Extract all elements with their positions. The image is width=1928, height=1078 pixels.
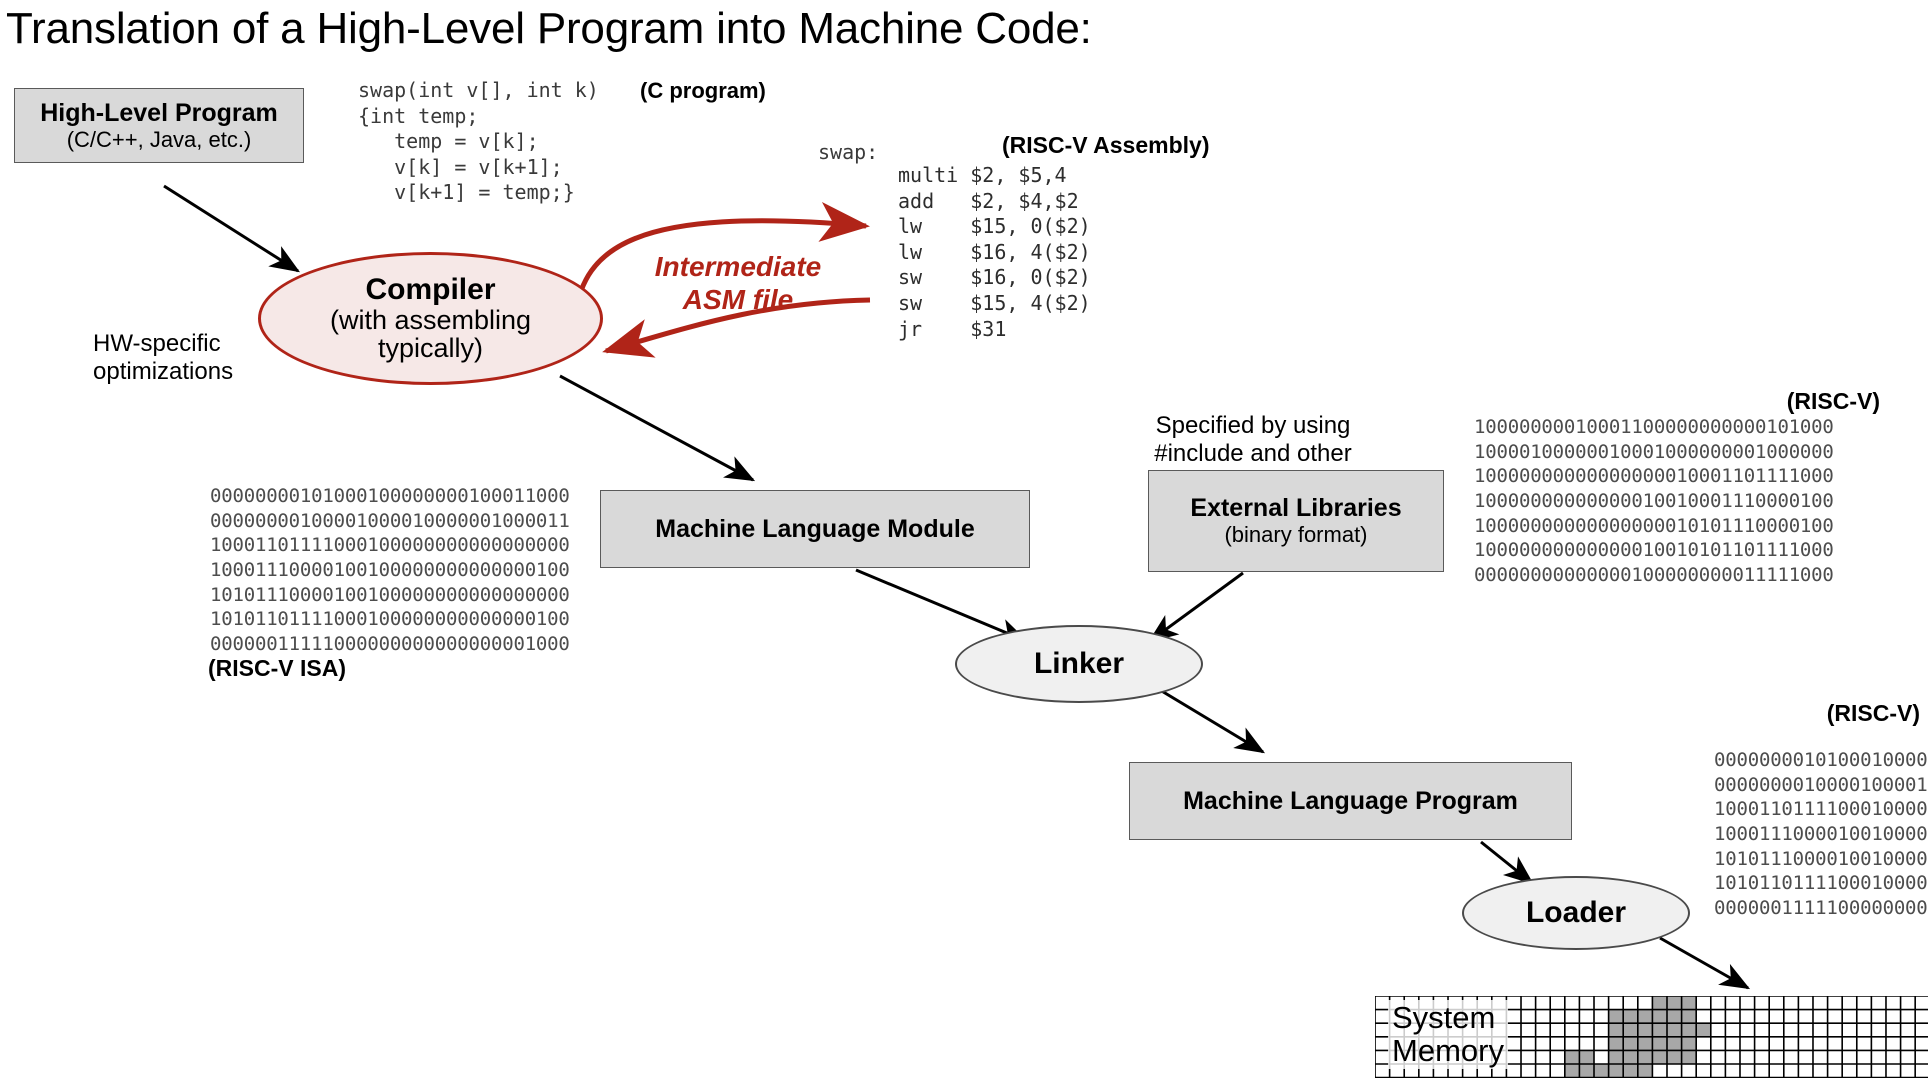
node-subtitle: (binary format) [1224,522,1367,547]
node-subtitle-line1: (with assembling [330,306,531,335]
riscv-tag-right: (RISC-V) [1600,388,1880,415]
node-title: Machine Language Program [1183,787,1518,815]
node-loader[interactable]: Loader [1462,876,1690,950]
system-memory-line2: Memory [1392,1034,1504,1067]
node-subtitle: (C/C++, Java, etc.) [67,127,252,152]
node-title: Compiler [365,274,495,306]
assembly-code: multi $2, $5,4 add $2, $4,$2 lw $15, 0($… [898,163,1091,342]
node-linker[interactable]: Linker [955,625,1203,703]
node-title: Linker [1034,648,1124,680]
page-title: Translation of a High-Level Program into… [6,4,1092,54]
node-machine-language-module[interactable]: Machine Language Module [600,490,1030,568]
slide-canvas: Translation of a High-Level Program into… [0,0,1928,1078]
c-program-source: swap(int v[], int k) {int temp; temp = v… [358,78,599,206]
hw-specific-optimizations-label: HW-specific optimizations [93,330,233,387]
node-title: Machine Language Module [655,515,974,543]
node-machine-language-program[interactable]: Machine Language Program [1129,762,1572,840]
binary-machine-language-program: 00000000101000100000000100011000 0000000… [1714,748,1928,921]
binary-external-libraries: 10000000010001100000000000101000 1000010… [1474,415,1834,588]
specified-by-using-label: Specified by using #include and other [1138,412,1368,469]
riscv-isa-tag: (RISC-V ISA) [208,655,346,682]
system-memory-label: System Memory [1388,1000,1508,1069]
riscv-assembly-tag: (RISC-V Assembly) [1002,132,1209,159]
node-title: Loader [1526,897,1626,929]
node-compiler[interactable]: Compiler (with assembling typically) [258,252,603,385]
c-program-tag: (C program) [640,78,766,104]
system-memory-line1: System [1392,1001,1504,1034]
assembly-label: swap: [818,140,878,166]
intermediate-asm-label: Intermediate ASM file [638,250,838,316]
node-title: External Libraries [1190,494,1401,522]
node-external-libraries[interactable]: External Libraries (binary format) [1148,470,1444,572]
binary-machine-language-module: 00000000101000100000000100011000 0000000… [210,484,570,657]
node-high-level-program[interactable]: High-Level Program (C/C++, Java, etc.) [14,88,304,163]
node-subtitle-line2: typically) [378,334,483,363]
riscv-tag-bottom-right: (RISC-V) [1640,700,1920,727]
node-title: High-Level Program [40,99,278,127]
